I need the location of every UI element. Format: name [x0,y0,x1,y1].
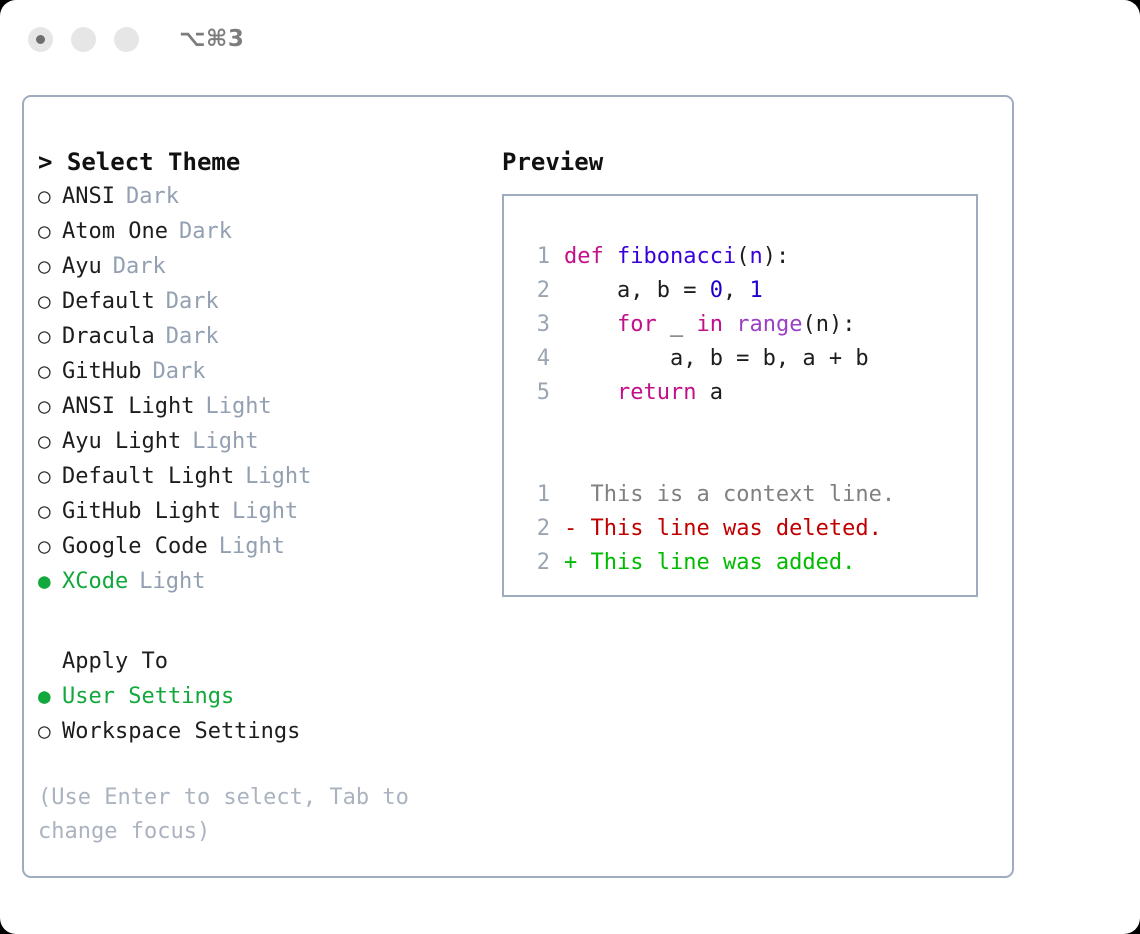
code-line: 2 a, b = 0, 1 [520,274,976,308]
main-window: > Select Theme ○ ANSI Dark ○ Atom One Da… [22,95,1014,878]
theme-option-label: Google Code [62,530,208,564]
token-punct [723,312,736,337]
theme-variant-tag: Dark [126,180,179,214]
token-indent [564,312,617,337]
code-blank-line [520,410,976,444]
app-root: ⌥⌘3 > Select Theme ○ ANSI Dark ○ Atom On… [0,0,1140,934]
preview-heading: Preview [502,145,1002,179]
token-keyword: in [696,312,723,337]
radio-icon: ○ [38,494,62,528]
token-punct: _ [657,312,697,337]
theme-option-default-light[interactable]: ○ Default Light Light [38,459,478,494]
token-keyword: def [564,244,604,269]
token-punct: a, b = b, a + b [564,346,869,371]
window-columns: > Select Theme ○ ANSI Dark ○ Atom One Da… [24,97,1012,876]
preview-panel: Preview 1 def fibonacci(n): 2 a, b = 0, … [502,145,1002,597]
code-line: 4 a, b = b, a + b [520,342,976,376]
theme-option-ansi[interactable]: ○ ANSI Dark [38,179,478,214]
preview-box: 1 def fibonacci(n): 2 a, b = 0, 1 3 for … [502,194,978,597]
theme-option-label: ANSI Light [62,390,194,424]
theme-option-xcode[interactable]: ● XCode Light [38,564,478,599]
diff-text: This is a context line. [591,478,896,512]
section-spacer [38,599,478,645]
window-controls [28,27,139,52]
apply-to-option-label: User Settings [62,680,234,714]
radio-icon: ○ [38,319,62,353]
keyboard-hint-text: (Use Enter to select, Tab to change focu… [38,781,448,849]
window-dot-1[interactable] [28,27,53,52]
theme-option-label: Dracula [62,320,155,354]
window-dot-3[interactable] [114,27,139,52]
theme-option-label: XCode [62,565,128,599]
theme-variant-tag: Light [205,390,271,424]
radio-icon: ○ [38,714,62,748]
theme-variant-tag: Dark [152,355,205,389]
line-number: 1 [520,240,550,274]
token-number: 1 [749,278,762,303]
diff-line-added: 2 + This line was added. [520,546,976,580]
theme-option-default[interactable]: ○ Default Dark [38,284,478,319]
theme-option-dracula[interactable]: ○ Dracula Dark [38,319,478,354]
theme-option-ayu[interactable]: ○ Ayu Dark [38,249,478,284]
radio-selected-icon: ● [38,679,62,713]
theme-variant-tag: Light [192,425,258,459]
theme-variant-tag: Light [232,495,298,529]
token-punct [604,244,617,269]
theme-panel: > Select Theme ○ ANSI Dark ○ Atom One Da… [38,145,478,849]
line-number: 2 [520,274,550,308]
apply-to-option-user-settings[interactable]: ● User Settings [38,679,478,714]
radio-icon: ○ [38,249,62,283]
apply-to-option-workspace-settings[interactable]: ○ Workspace Settings [38,714,478,749]
window-dot-2[interactable] [71,27,96,52]
radio-icon: ○ [38,179,62,213]
line-number: 1 [520,478,550,512]
theme-option-label: ANSI [62,180,115,214]
theme-variant-tag: Light [139,565,205,599]
token-function: fibonacci [617,244,736,269]
code-blank-line [520,444,976,478]
diff-line-deleted: 2 - This line was deleted. [520,512,976,546]
theme-variant-tag: Dark [179,215,232,249]
select-theme-heading: > Select Theme [38,145,478,179]
token-keyword: return [617,380,696,405]
theme-option-github[interactable]: ○ GitHub Dark [38,354,478,389]
theme-option-label: Ayu Light [62,425,181,459]
token-punct: , [723,278,750,303]
theme-option-label: GitHub [62,355,141,389]
code-line: 3 for _ in range(n): [520,308,976,342]
diff-line-context: 1 This is a context line. [520,478,976,512]
theme-option-label: GitHub Light [62,495,221,529]
token-keyword: for [617,312,657,337]
code-content: return a [564,376,723,410]
theme-option-label: Default Light [62,460,234,494]
radio-icon: ○ [38,354,62,388]
radio-icon: ○ [38,214,62,248]
code-line: 5 return a [520,376,976,410]
token-builtin: range [736,312,802,337]
theme-variant-tag: Dark [166,285,219,319]
code-line: 1 def fibonacci(n): [520,240,976,274]
radio-icon: ○ [38,284,62,318]
line-number: 2 [520,512,550,546]
theme-option-google-code[interactable]: ○ Google Code Light [38,529,478,564]
theme-option-label: Ayu [62,250,102,284]
theme-variant-tag: Dark [113,250,166,284]
theme-option-atom-one[interactable]: ○ Atom One Dark [38,214,478,249]
radio-icon: ○ [38,389,62,423]
hint-spacer [38,749,478,781]
diff-marker [564,478,591,512]
apply-to-option-label: Workspace Settings [62,715,300,749]
theme-variant-tag: Light [219,530,285,564]
token-indent [564,380,617,405]
diff-marker: - [564,512,591,546]
token-punct: ): [763,244,790,269]
titlebar: ⌥⌘3 [0,0,1140,78]
theme-option-ayu-light[interactable]: ○ Ayu Light Light [38,424,478,459]
radio-icon: ○ [38,424,62,458]
theme-option-label: Atom One [62,215,168,249]
token-punct: (n): [802,312,855,337]
line-number: 2 [520,546,550,580]
radio-selected-icon: ● [38,564,62,598]
radio-icon: ○ [38,529,62,563]
token-number: 0 [710,278,723,303]
token-punct: a, b = [564,278,710,303]
keyboard-shortcut-label: ⌥⌘3 [179,26,244,52]
line-number: 5 [520,376,550,410]
code-content: a, b = 0, 1 [564,274,763,308]
diff-marker: + [564,546,591,580]
apply-to-heading: Apply To [38,645,478,679]
window-dot-1-indicator [36,35,45,44]
code-content: a, b = b, a + b [564,342,869,376]
diff-text: This line was deleted. [591,512,882,546]
code-content: def fibonacci(n): [564,240,789,274]
diff-text: This line was added. [591,546,856,580]
code-content: for _ in range(n): [564,308,855,342]
theme-option-label: Default [62,285,155,319]
token-param: n [749,244,762,269]
theme-option-ansi-light[interactable]: ○ ANSI Light Light [38,389,478,424]
token-punct: a [696,380,723,405]
theme-option-github-light[interactable]: ○ GitHub Light Light [38,494,478,529]
token-punct: ( [736,244,749,269]
theme-variant-tag: Dark [166,320,219,354]
line-number: 3 [520,308,550,342]
theme-variant-tag: Light [245,460,311,494]
radio-icon: ○ [38,459,62,493]
line-number: 4 [520,342,550,376]
